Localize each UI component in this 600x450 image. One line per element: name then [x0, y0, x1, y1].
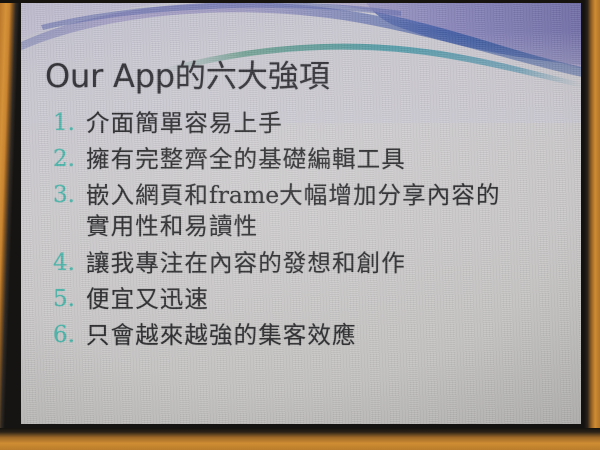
list-item-text-latin: frame: [209, 181, 279, 209]
list-item-number: 1.: [45, 109, 75, 137]
list-item: 6. 只會越來越強的集客效應: [45, 321, 565, 350]
list-item-number: 2.: [45, 145, 75, 173]
list-item-text: 只會越來越強的集客效應: [86, 321, 565, 350]
list-item: 4. 讓我專注在內容的發想和創作: [45, 249, 565, 278]
list-item: 5. 便宜又迅速: [45, 285, 565, 314]
monitor-screen: Our App的六大強項 1. 介面簡單容易上手 2. 擁有完整齊全的基礎編輯工…: [21, 3, 581, 424]
monitor-photo-frame: Our App的六大強項 1. 介面簡單容易上手 2. 擁有完整齊全的基礎編輯工…: [0, 0, 600, 450]
list-item-text: 讓我專注在內容的發想和創作: [86, 249, 565, 278]
bezel-right-edge: [584, 0, 600, 450]
slide-title-latin: Our App: [45, 57, 175, 95]
list-item: 2. 擁有完整齊全的基礎編輯工具: [45, 145, 565, 174]
bezel-bottom-edge: [0, 428, 600, 450]
list-item-number: 4.: [45, 249, 75, 277]
slide-title: Our App的六大強項: [45, 51, 330, 96]
list-item-number: 5.: [45, 285, 75, 313]
list-item-number: 6.: [45, 321, 75, 349]
list-item-text: 便宜又迅速: [86, 285, 565, 314]
list-item-text-line2: 實用性和易讀性: [86, 212, 565, 241]
list-item: 3. 嵌入網頁和frame大幅增加分享內容的 實用性和易讀性: [45, 181, 565, 241]
slide-title-cjk: 的六大強項: [175, 59, 330, 95]
slide-content: Our App的六大強項 1. 介面簡單容易上手 2. 擁有完整齊全的基礎編輯工…: [21, 3, 581, 424]
list-item-text: 嵌入網頁和frame大幅增加分享內容的 實用性和易讀性: [86, 181, 565, 241]
list-item-number: 3.: [45, 181, 75, 209]
list-item-text-part-b: 大幅增加分享內容的: [279, 181, 500, 209]
list-item-text: 介面簡單容易上手: [86, 109, 565, 138]
list-item-text: 擁有完整齊全的基礎編輯工具: [86, 145, 565, 174]
bullet-list: 1. 介面簡單容易上手 2. 擁有完整齊全的基礎編輯工具 3. 嵌入網頁和fra…: [45, 109, 565, 357]
list-item: 1. 介面簡單容易上手: [45, 109, 565, 138]
list-item-text-part-a: 嵌入網頁和: [86, 181, 209, 209]
